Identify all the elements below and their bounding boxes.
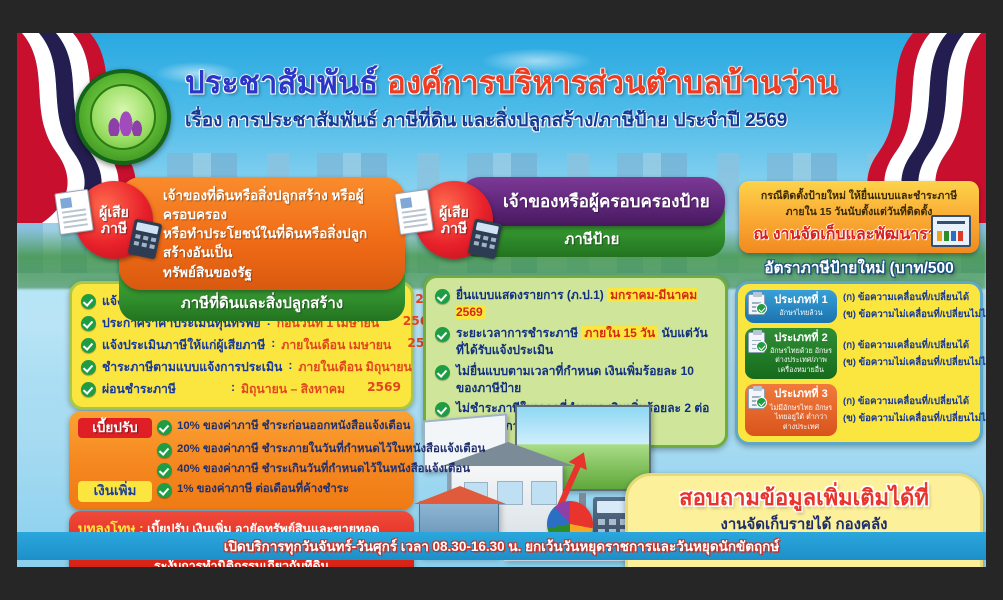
rate-item-text: (ข) ข้อความไม่เคลื่อนที่/เปลี่ยนไม่ได้: [843, 411, 986, 426]
check-icon: [81, 316, 96, 331]
check-icon: [435, 365, 450, 380]
sign-rule-row: ยื่นแบบแสดงรายการ (ภ.ป.1) มกราคม-มีนาคม …: [435, 287, 715, 322]
new-sign-notice: กรณีติดตั้งป้ายใหม่ ให้ยื่นแบบและชำระภาษ…: [739, 181, 979, 253]
document-icon: [394, 189, 434, 235]
header-title-block: ประชาสัมพันธ์ องค์การบริหารส่วนตำบลบ้านว…: [185, 65, 885, 135]
sign-rule-text: ไม่ยื่นแบบตามเวลาที่กำหนด เงินเพิ่มร้อยล…: [456, 363, 715, 398]
contact-heading: สอบถามข้อมูลเพิ่มเติมได้ที่: [640, 485, 968, 511]
check-icon: [435, 327, 450, 342]
service-hours-text: เปิดบริการทุกวันจันทร์-วันศุกร์ เวลา 08.…: [224, 539, 779, 554]
check-icon: [81, 360, 96, 375]
taxpayer-desc-line1: เจ้าของที่ดินหรือสิ่งปลูกสร้าง หรือผู้คร…: [163, 186, 391, 224]
rate-item-text: (ข) ข้อความไม่เคลื่อนที่/เปลี่ยนไม่ได้: [843, 355, 986, 370]
service-hours-bar: เปิดบริการทุกวันจันทร์-วันศุกร์ เวลา 08.…: [17, 532, 986, 560]
taxpayer-description-sign: เจ้าของหรือผู้ครอบครองป้าย: [459, 177, 725, 226]
penalty-text: 20% ของค่าภาษี ชำระภายในวันที่กำหนดไว้ใน…: [177, 441, 485, 458]
sign-rule-pre: ระยะเวลาการชำระภาษี: [456, 326, 581, 340]
penalties-panel: เบี้ยปรับ 10% ของค่าภาษี ชำระก่อนออกหนัง…: [69, 411, 414, 510]
schedule-row: แจ้งประเมินภาษีให้แก่ผู้เสียภาษี : ภายใน…: [81, 336, 401, 355]
rate-type-description: อักษรไทยล้วน: [769, 308, 833, 318]
rate-item-list: (ก) ข้อความเคลื่อนที่/เปลี่ยนได้ (ข) ข้อ…: [843, 328, 986, 380]
taxpayer-badge-line2: ภาษี: [441, 220, 467, 236]
taxpayer-description-land: เจ้าของที่ดินหรือสิ่งปลูกสร้าง หรือผู้คร…: [119, 177, 405, 290]
schedule-deadline: ภายในเดือน เมษายน: [281, 336, 401, 355]
schedule-label: ชำระภาษีตามแบบแจ้งการประเมิน: [102, 358, 282, 377]
rate-type-2: ประเภทที่ 2 อักษรไทยด้วย อักษรต่างประเทศ…: [745, 328, 837, 380]
new-sign-notice-line1: กรณีติดตั้งป้ายใหม่ ให้ยื่นแบบและชำระภาษ…: [749, 189, 969, 205]
rate-item-list: (ก) ข้อความเคลื่อนที่/เปลี่ยนได้ (ข) ข้อ…: [843, 384, 986, 436]
sign-rule-pre: ยื่นแบบแสดงรายการ (ภ.ป.1): [456, 288, 607, 302]
sign-rule-row: ไม่ยื่นแบบตามเวลาที่กำหนด เงินเพิ่มร้อยล…: [435, 363, 715, 398]
taxpayer-desc-line3: ทรัพย์สินของรัฐ: [163, 263, 391, 282]
check-icon: [157, 420, 172, 435]
check-icon: [756, 397, 767, 408]
schedule-row: ชำระภาษีตามแบบแจ้งการประเมิน : ภายในเดือ…: [81, 358, 401, 377]
rate-row: ประเภทที่ 3 ไม่มีอักษรไทย อักษรไทยอยู่ใต…: [745, 384, 973, 436]
check-icon: [157, 483, 172, 498]
penalty-row: เบี้ยปรับ 10% ของค่าภาษี ชำระก่อนออกหนัง…: [78, 418, 405, 438]
rate-type-name: ประเภทที่ 2: [769, 332, 833, 345]
rate-type-description: อักษรไทยด้วย อักษรต่างประเทศ/ภาพ เครื่อง…: [769, 346, 833, 375]
rate-row: ประเภทที่ 2 อักษรไทยด้วย อักษรต่างประเทศ…: [745, 328, 973, 380]
page-title: ประชาสัมพันธ์ องค์การบริหารส่วนตำบลบ้านว…: [185, 65, 885, 102]
page-subtitle: เรื่อง การประชาสัมพันธ์ ภาษีที่ดิน และสิ…: [185, 105, 885, 135]
schedule-deadline: มิถุนายน – สิงหาคม: [241, 380, 361, 399]
taxpayer-desc-line1: เจ้าของหรือผู้ครอบครองป้าย: [503, 190, 711, 214]
rate-type-description: ไม่มีอักษรไทย อักษรไทยอยู่ใต้ ต่ำกว่าต่า…: [769, 403, 833, 432]
rate-type-1: ประเภทที่ 1 อักษรไทยล้วน: [745, 290, 837, 323]
penalty-text: 1% ของค่าภาษี ต่อเดือนที่ค้างชำระ: [177, 481, 349, 498]
sign-rule-row: ระยะเวลาการชำระภาษี ภายใน 15 วัน นับแต่ว…: [435, 325, 715, 360]
rate-type-3: ประเภทที่ 3 ไม่มีอักษรไทย อักษรไทยอยู่ใต…: [745, 384, 837, 436]
municipality-seal-logo: [75, 69, 171, 165]
check-icon: [157, 443, 172, 458]
check-icon: [756, 341, 767, 352]
fine-tag: เบี้ยปรับ: [78, 418, 152, 438]
taxpayer-badge-line2: ภาษี: [101, 220, 127, 236]
check-icon: [81, 294, 96, 309]
sign-tax-rate-table: ประเภทที่ 1 อักษรไทยล้วน (ก) ข้อความเคลื…: [735, 281, 983, 445]
bar-chart-monitor-icon: [931, 215, 971, 247]
poster: ประชาสัมพันธ์ องค์การบริหารส่วนตำบลบ้านว…: [17, 33, 986, 567]
schedule-separator: :: [231, 380, 235, 394]
rate-item-list: (ก) ข้อความเคลื่อนที่/เปลี่ยนได้ (ข) ข้อ…: [843, 290, 986, 323]
schedule-row: ผ่อนชำระภาษี : มิถุนายน – สิงหาคม 2569: [81, 380, 401, 399]
rate-type-name: ประเภทที่ 3: [769, 388, 833, 401]
penalty-text: 40% ของค่าภาษี ชำระเกินวันที่กำหนดไว้ในห…: [177, 461, 470, 478]
check-icon: [435, 289, 450, 304]
sign-rule-highlight: ภายใน 15 วัน: [581, 326, 658, 340]
penalty-text: 10% ของค่าภาษี ชำระก่อนออกหนังสือแจ้งเตื…: [177, 418, 410, 435]
seal-inner-emblem: [90, 84, 156, 150]
page-title-part1: ประชาสัมพันธ์: [185, 65, 387, 100]
check-icon: [157, 463, 172, 478]
taxpayer-card-sign: ผู้เสีย ภาษี เจ้าของหรือผู้ครอบครองป้าย …: [415, 177, 725, 257]
screenshot-canvas: ประชาสัมพันธ์ องค์การบริหารส่วนตำบลบ้านว…: [0, 0, 1003, 600]
rate-type-name: ประเภทที่ 1: [769, 294, 833, 307]
sign-rule-text: ระยะเวลาการชำระภาษี ภายใน 15 วัน นับแต่ว…: [456, 325, 715, 360]
taxpayer-card-land: ผู้เสีย ภาษี เจ้าของที่ดินหรือสิ่งปลูกสร…: [75, 177, 405, 321]
rate-item-text: (ก) ข้อความเคลื่อนที่/เปลี่ยนได้: [843, 290, 986, 305]
surcharge-tag: เงินเพิ่ม: [78, 481, 152, 501]
schedule-year: 2569: [367, 380, 401, 394]
rate-row: ประเภทที่ 1 อักษรไทยล้วน (ก) ข้อความเคลื…: [745, 290, 973, 323]
rate-item-text: (ก) ข้อความเคลื่อนที่/เปลี่ยนได้: [843, 394, 986, 409]
document-icon: [54, 189, 94, 235]
penalty-row: 40% ของค่าภาษี ชำระเกินวันที่กำหนดไว้ในห…: [78, 461, 405, 478]
check-icon: [81, 382, 96, 397]
page-title-part2: องค์การบริหารส่วนตำบลบ้านว่าน: [387, 65, 838, 100]
penalty-row: เงินเพิ่ม 1% ของค่าภาษี ต่อเดือนที่ค้างช…: [78, 481, 405, 501]
schedule-deadline: ภายในเดือน มิถุนายน: [298, 358, 418, 377]
schedule-label: แจ้งประเมินภาษีให้แก่ผู้เสียภาษี: [102, 336, 265, 355]
taxpayer-badge-line1: ผู้เสีย: [99, 204, 129, 220]
rate-item-text: (ก) ข้อความเคลื่อนที่/เปลี่ยนได้: [843, 338, 986, 353]
sign-rule-text: ยื่นแบบแสดงรายการ (ภ.ป.1) มกราคม-มีนาคม …: [456, 287, 715, 322]
rate-item-text: (ข) ข้อความไม่เคลื่อนที่/เปลี่ยนไม่ได้: [843, 307, 986, 322]
taxpayer-desc-line2: หรือทำประโยชน์ในที่ดินหรือสิ่งปลูกสร้างอ…: [163, 224, 391, 262]
check-icon: [756, 303, 767, 314]
schedule-separator: :: [288, 358, 292, 372]
check-icon: [81, 338, 96, 353]
schedule-label: ผ่อนชำระภาษี: [102, 380, 225, 399]
taxpayer-badge-line1: ผู้เสีย: [439, 204, 469, 220]
penalty-row: 20% ของค่าภาษี ชำระภายในวันที่กำหนดไว้ใน…: [78, 441, 405, 458]
schedule-separator: :: [271, 336, 275, 350]
